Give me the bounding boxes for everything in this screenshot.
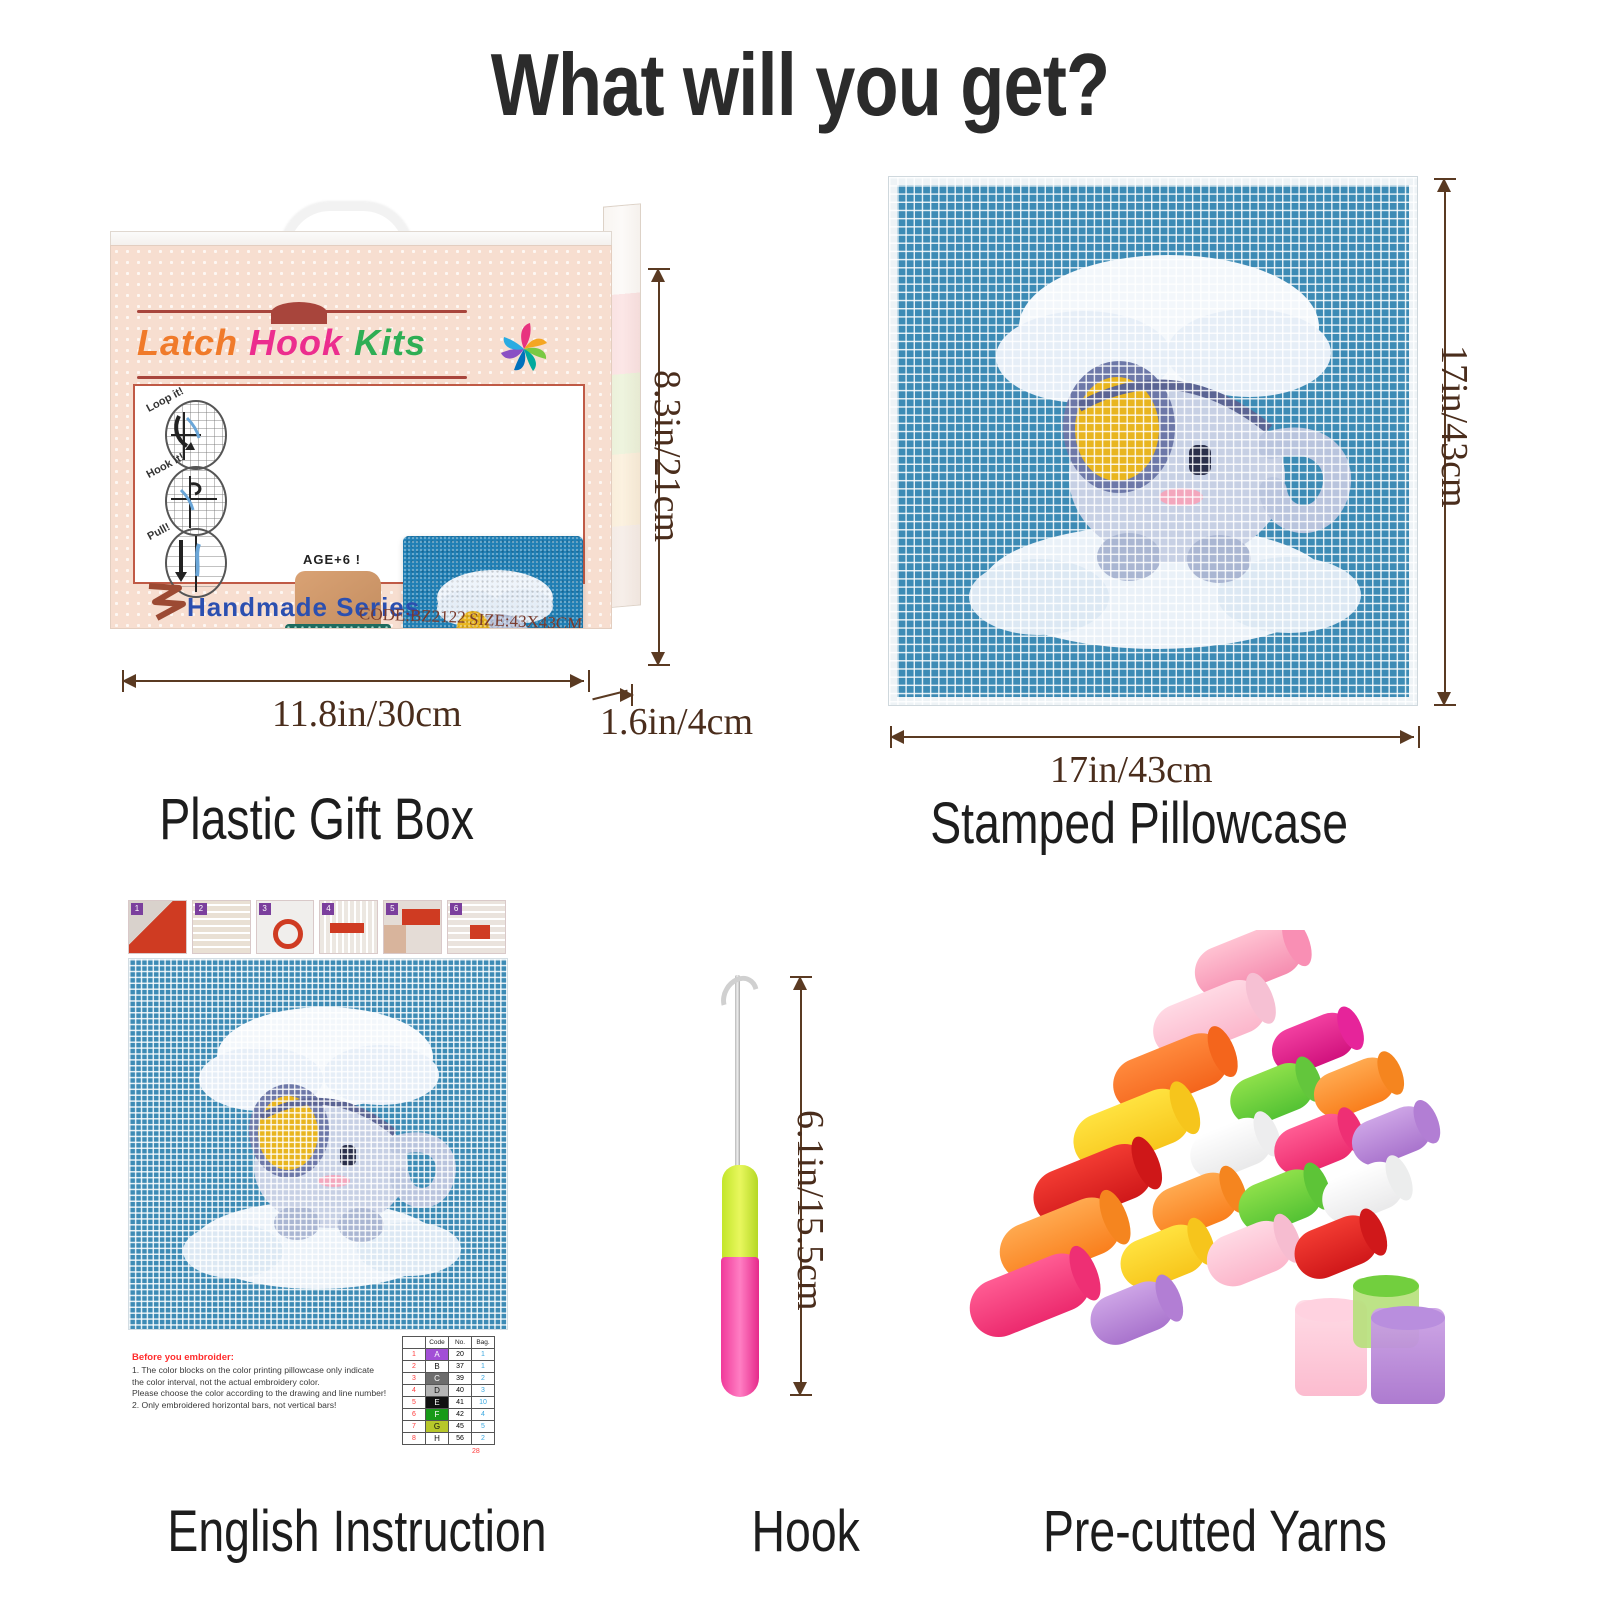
pillowcase-label: Stamped Pillowcase: [930, 790, 1348, 857]
row-number: 41: [449, 1397, 472, 1409]
row-code: E: [426, 1397, 449, 1409]
row-code: B: [426, 1361, 449, 1373]
product-code: CODE:BZ2122: [359, 604, 466, 628]
table-row: 2 B 37 1: [403, 1361, 495, 1373]
row-bag: 3: [472, 1385, 495, 1397]
yarn-bundle-pile: [955, 930, 1475, 1450]
box-depth-label: 1.6in/4cm: [600, 700, 753, 744]
stamped-pillowcase-image: [888, 176, 1418, 706]
row-index: 6: [403, 1409, 426, 1421]
box-height-label: 8.3in/21cm: [645, 370, 689, 542]
instruction-pattern-chart: [128, 958, 508, 1330]
brand-word-latch: Latch: [137, 322, 238, 363]
before-line: 2. Only embroidered horizontal bars, not…: [132, 1400, 404, 1412]
row-bag: 1: [472, 1361, 495, 1373]
row-number: 39: [449, 1373, 472, 1385]
table-header-row: Code No. Bag.: [403, 1337, 495, 1349]
step-diagram-hook: [165, 466, 227, 536]
hook-handle-upper: [722, 1165, 758, 1261]
row-bag: 2: [472, 1373, 495, 1385]
step-photo: 2: [192, 900, 251, 954]
row-number: 45: [449, 1421, 472, 1433]
box-width-label: 11.8in/30cm: [272, 692, 462, 736]
handmade-ribbon-icon: [145, 582, 189, 622]
box-front-face: Latch Hook Kits Loop it!: [110, 245, 612, 629]
hook-latch-tip: [714, 969, 766, 1025]
brand-ribbon-ornament: [271, 302, 327, 324]
row-index: 3: [403, 1373, 426, 1385]
row-number: 37: [449, 1361, 472, 1373]
page-title: What will you get?: [144, 34, 1456, 136]
step-photo-strip: 1 2 3 4 5 6: [128, 900, 506, 952]
step-photo-number: 3: [259, 903, 271, 915]
before-title: Before you embroider:: [132, 1352, 404, 1363]
instruction-pixel-art: [129, 959, 507, 1329]
step-photo-number: 4: [322, 903, 334, 915]
step-photo-number: 5: [386, 903, 398, 915]
yarns-label: Pre-cutted Yarns: [1043, 1498, 1387, 1565]
color-code-table: Code No. Bag. 1 A 20 1 2 B 37 1 3 C 39 2: [402, 1336, 495, 1445]
row-bag: 10: [472, 1397, 495, 1409]
row-number: 42: [449, 1409, 472, 1421]
step-photo: 5: [383, 900, 442, 954]
row-code: D: [426, 1385, 449, 1397]
brand-word-hook: Hook: [249, 322, 343, 363]
step-photo: 3: [256, 900, 315, 954]
table-row: 8 H 56 2: [403, 1433, 495, 1445]
pillow-band: [285, 624, 391, 629]
brand-word-kits: Kits: [354, 322, 426, 363]
row-bag: 2: [472, 1433, 495, 1445]
brand-title: Latch Hook Kits: [137, 322, 487, 374]
table-header-cell: [403, 1337, 426, 1349]
hook-tool-image: [706, 975, 776, 1395]
before-you-embroider-block: Before you embroider: 1. The color block…: [132, 1352, 404, 1411]
before-line: Please choose the color according to the…: [132, 1388, 404, 1400]
row-number: 56: [449, 1433, 472, 1445]
hook-handle-lower: [721, 1257, 759, 1397]
table-row: 4 D 40 3: [403, 1385, 495, 1397]
table-header-cell: No.: [449, 1337, 472, 1349]
age-recommendation: AGE+6 !: [303, 552, 361, 567]
step-photo: 1: [128, 900, 187, 954]
pre-cutted-yarns-image: [955, 930, 1475, 1450]
hook-label: Hook: [752, 1498, 860, 1565]
pillowcase-pixel-art: [889, 177, 1419, 707]
instruction-label: English Instruction: [167, 1498, 546, 1565]
table-header-cell: Code: [426, 1337, 449, 1349]
row-bag: 5: [472, 1421, 495, 1433]
table-total: 28: [472, 1448, 510, 1455]
pillowcase-canvas: [888, 176, 1418, 706]
pinwheel-logo-icon: [493, 318, 555, 380]
table-row: 7 G 45 5: [403, 1421, 495, 1433]
table-row: 5 E 41 10: [403, 1397, 495, 1409]
table-row: 1 A 20 1: [403, 1349, 495, 1361]
row-code: F: [426, 1409, 449, 1421]
row-code: A: [426, 1349, 449, 1361]
row-bag: 1: [472, 1349, 495, 1361]
row-index: 2: [403, 1361, 426, 1373]
box-artwork-panel: Loop it! Hook it!: [133, 384, 585, 584]
before-line: the color interval, not the actual embro…: [132, 1377, 404, 1389]
brand-rule-bottom: [137, 376, 467, 379]
gift-box-image: Latch Hook Kits Loop it!: [110, 205, 640, 635]
pillowcase-width-label: 17in/43cm: [1050, 748, 1213, 792]
step-photo-number: 2: [195, 903, 207, 915]
gift-box-label: Plastic Gift Box: [159, 786, 474, 853]
row-number: 20: [449, 1349, 472, 1361]
row-code: C: [426, 1373, 449, 1385]
pillowcase-height-label: 17in/43cm: [1432, 345, 1476, 508]
row-index: 7: [403, 1421, 426, 1433]
step-photo-number: 6: [450, 903, 462, 915]
hook-length-label: 6.1in/15.5cm: [788, 1110, 832, 1311]
row-number: 40: [449, 1385, 472, 1397]
row-code: G: [426, 1421, 449, 1433]
table-row: 6 F 42 4: [403, 1409, 495, 1421]
row-index: 1: [403, 1349, 426, 1361]
row-index: 8: [403, 1433, 426, 1445]
step-photo-number: 1: [131, 903, 143, 915]
row-index: 5: [403, 1397, 426, 1409]
step-photo: 6: [447, 900, 506, 954]
row-bag: 4: [472, 1409, 495, 1421]
infographic-page: What will you get? Latch Hook Kits: [0, 0, 1600, 1600]
step-photo: 4: [319, 900, 378, 954]
row-index: 4: [403, 1385, 426, 1397]
english-instruction-image: 1 2 3 4 5 6: [122, 900, 512, 1470]
table-header-cell: Bag.: [472, 1337, 495, 1349]
table-row: 3 C 39 2: [403, 1373, 495, 1385]
before-line: 1. The color blocks on the color printin…: [132, 1365, 404, 1377]
row-code: H: [426, 1433, 449, 1445]
